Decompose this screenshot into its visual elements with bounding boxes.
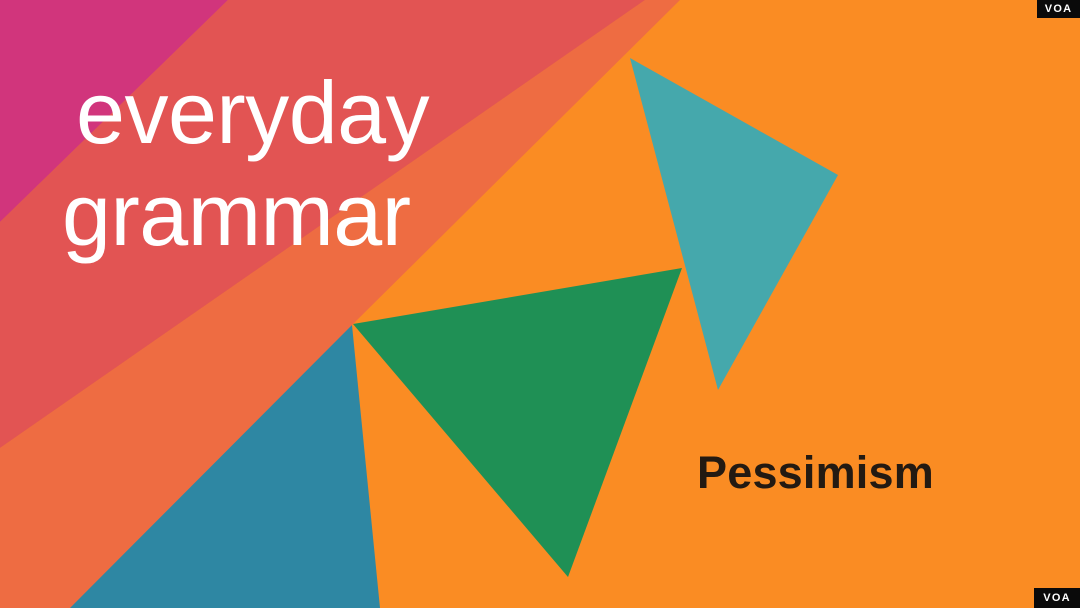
everyday-grammar-title-card: everyday grammar Pessimism VOA VOA <box>0 0 1080 608</box>
topic-title: Pessimism <box>697 447 934 499</box>
background-geometry <box>0 0 1080 608</box>
voa-logo-bottom: VOA <box>1034 588 1080 608</box>
voa-logo-top: VOA <box>1037 0 1080 18</box>
